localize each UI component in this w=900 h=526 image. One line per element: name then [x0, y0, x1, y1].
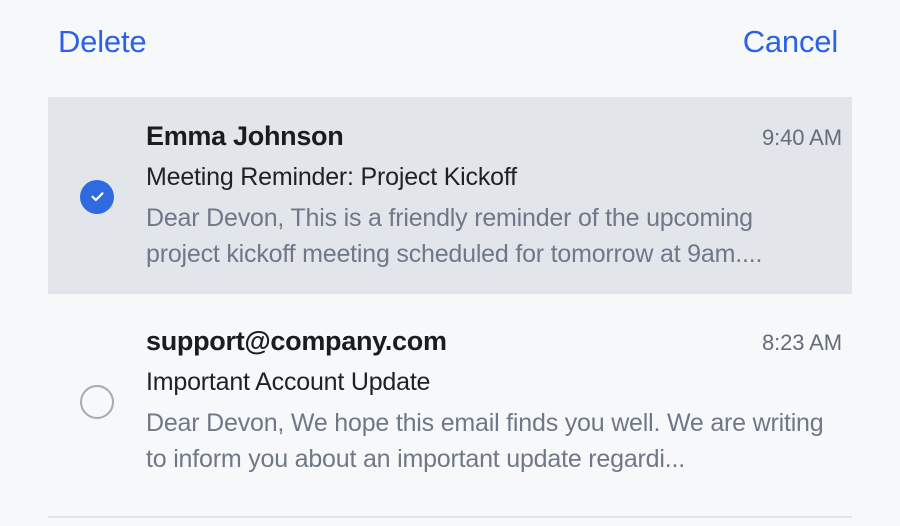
select-checkbox[interactable]	[48, 385, 146, 419]
delete-button[interactable]: Delete	[58, 26, 146, 57]
cancel-button[interactable]: Cancel	[743, 26, 838, 57]
email-timestamp: 9:40 AM	[762, 125, 846, 151]
email-header-line: Emma Johnson 9:40 AM	[146, 121, 846, 153]
email-preview: Dear Devon, We hope this email finds you…	[146, 406, 832, 478]
list-divider	[48, 516, 852, 518]
email-list-item[interactable]: support@company.com 8:23 AM Important Ac…	[48, 302, 852, 499]
check-circle-filled-icon[interactable]	[80, 180, 114, 214]
email-preview: Dear Devon, This is a friendly reminder …	[146, 201, 832, 273]
email-sender: support@company.com	[146, 326, 447, 358]
email-list-item[interactable]: Emma Johnson 9:40 AM Meeting Reminder: P…	[48, 97, 852, 294]
toolbar: Delete Cancel	[0, 0, 900, 82]
email-subject: Important Account Update	[146, 368, 846, 397]
email-sender: Emma Johnson	[146, 121, 343, 153]
mail-selection-screen: Delete Cancel Emma Johnson 9:40 AM Meeti…	[0, 0, 900, 526]
email-timestamp: 8:23 AM	[762, 330, 846, 356]
email-subject: Meeting Reminder: Project Kickoff	[146, 163, 846, 192]
email-content: Emma Johnson 9:40 AM Meeting Reminder: P…	[146, 121, 852, 272]
select-checkbox[interactable]	[48, 180, 146, 214]
email-content: support@company.com 8:23 AM Important Ac…	[146, 326, 852, 477]
email-header-line: support@company.com 8:23 AM	[146, 326, 846, 358]
circle-outline-icon[interactable]	[80, 385, 114, 419]
email-list: Emma Johnson 9:40 AM Meeting Reminder: P…	[0, 82, 900, 518]
